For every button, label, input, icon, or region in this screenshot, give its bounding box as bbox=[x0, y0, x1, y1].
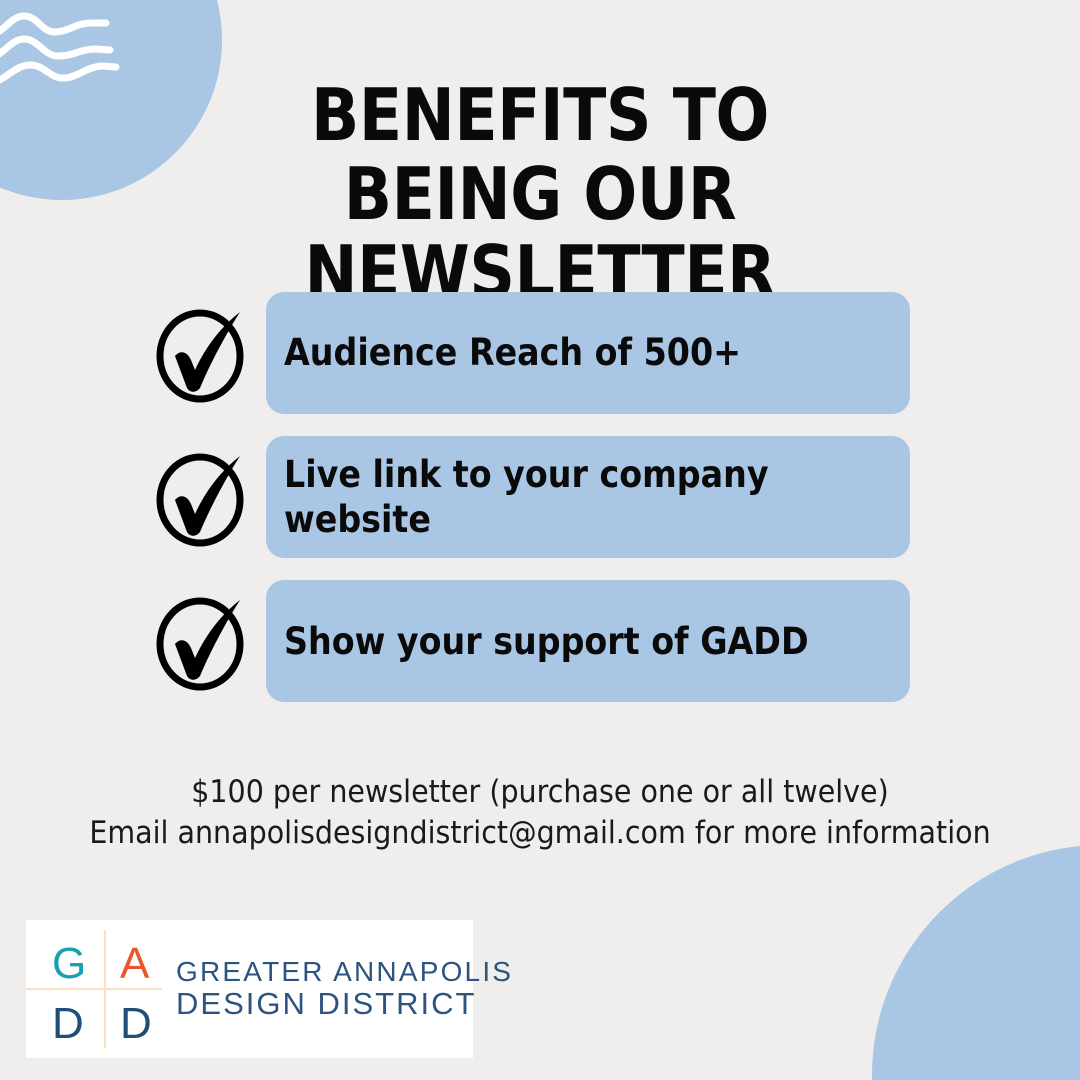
gadd-logo: G A D D GREATER ANNAPOLIS DESIGN DISTRIC… bbox=[26, 920, 473, 1058]
benefit-label: Audience Reach of 500+ bbox=[284, 330, 829, 375]
blue-circle-shape-bottom-right bbox=[872, 845, 1080, 1080]
logo-letter-d-second: D bbox=[120, 1002, 152, 1046]
logo-letter-d-first: D bbox=[52, 1002, 84, 1046]
logo-letter-g: G bbox=[52, 942, 86, 986]
logo-wordmark: GREATER ANNAPOLIS DESIGN DISTRICT bbox=[162, 956, 513, 1022]
logo-grid-horizontal-line bbox=[26, 988, 162, 990]
wave-lines-icon bbox=[0, 8, 154, 94]
benefit-pill: Audience Reach of 500+ bbox=[266, 292, 910, 414]
benefit-label: Live link to your company website bbox=[284, 452, 829, 542]
benefit-label: Show your support of GADD bbox=[284, 619, 829, 664]
benefit-pill: Live link to your company website bbox=[266, 436, 910, 558]
logo-monogram-grid: G A D D bbox=[26, 920, 162, 1058]
check-circle-icon bbox=[150, 298, 254, 408]
logo-wordmark-line-1: GREATER ANNAPOLIS bbox=[176, 956, 513, 987]
benefit-item: Audience Reach of 500+ bbox=[150, 292, 910, 414]
benefit-item: Show your support of GADD bbox=[150, 580, 910, 702]
benefit-item: Live link to your company website bbox=[150, 436, 910, 558]
email-line: Email annapolisdesigndistrict@gmail.com … bbox=[80, 813, 1000, 854]
benefit-pill: Show your support of GADD bbox=[266, 580, 910, 702]
benefits-list: Audience Reach of 500+ Live link to your… bbox=[150, 292, 910, 724]
check-circle-icon bbox=[150, 586, 254, 696]
poster-canvas: BENEFITS TO BEING OUR NEWSLETTER SPONSOR… bbox=[0, 0, 1080, 1080]
check-circle-icon bbox=[150, 442, 254, 552]
logo-letter-a: A bbox=[120, 942, 149, 986]
body-copy: $100 per newsletter (purchase one or all… bbox=[80, 772, 1000, 854]
price-line: $100 per newsletter (purchase one or all… bbox=[80, 772, 1000, 813]
logo-wordmark-line-2: DESIGN DISTRICT bbox=[176, 987, 513, 1022]
